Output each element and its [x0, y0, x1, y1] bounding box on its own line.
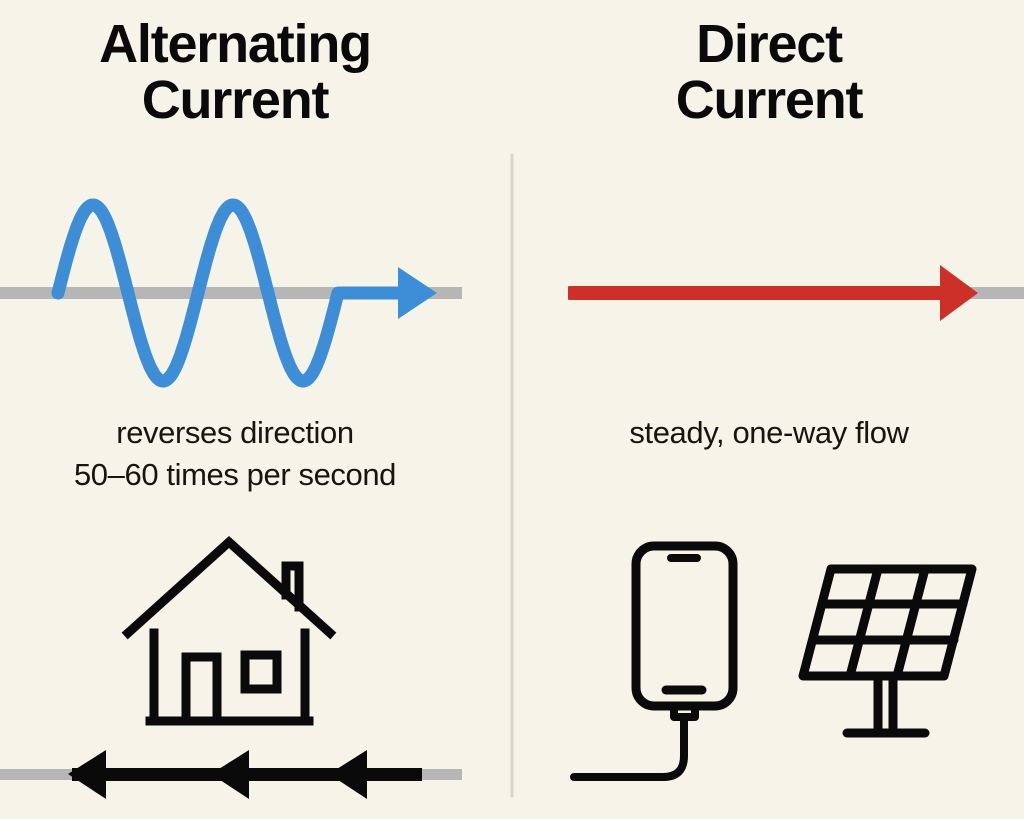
ac-flow-arrowhead-1-icon	[68, 750, 106, 799]
ac-flow-arrowhead-3-icon	[329, 750, 367, 799]
dc-arrow-shaft	[568, 286, 956, 300]
house-icon	[128, 542, 330, 721]
dc-straight-arrow	[568, 265, 978, 321]
ac-arrowhead-icon	[398, 267, 437, 319]
graphics-layer	[0, 0, 1024, 819]
ac-flow-arrowhead-2-icon	[211, 750, 249, 799]
dc-arrowhead-icon	[940, 265, 978, 321]
infographic-canvas: Alternating Current Direct Current rever…	[0, 0, 1024, 819]
solar-panel-icon	[803, 569, 972, 733]
smartphone-charging-icon	[574, 546, 733, 777]
ac-flow-row	[0, 750, 462, 799]
